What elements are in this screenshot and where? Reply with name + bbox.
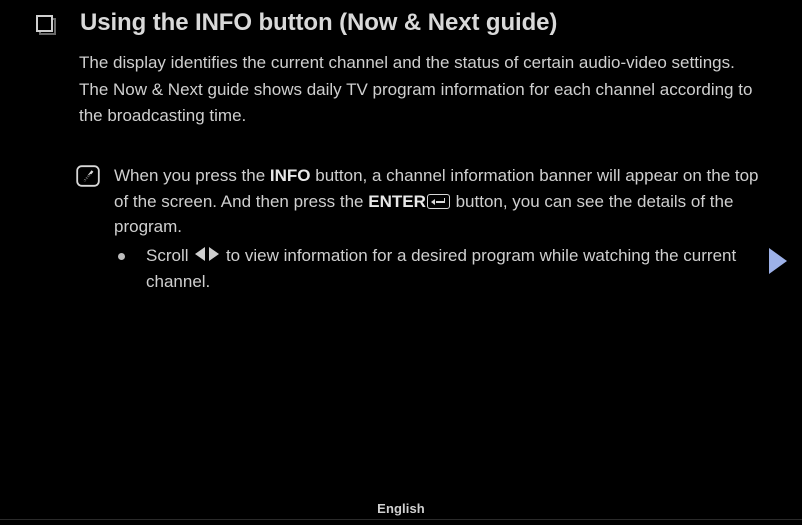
paragraph: The Now & Next guide shows daily TV prog…	[79, 77, 759, 129]
page-header: Using the INFO button (Now & Next guide)	[0, 6, 802, 41]
language-label: English	[377, 501, 425, 516]
dot-bullet-icon	[118, 253, 125, 260]
note-block: When you press the INFO button, a channe…	[76, 163, 766, 240]
list-item-text: Scroll to view information for a desired…	[146, 243, 763, 294]
arrow-right-icon	[209, 247, 219, 261]
enter-return-key-icon	[427, 194, 450, 209]
note-pencil-icon	[76, 165, 100, 187]
list-item-segment: Scroll	[146, 246, 193, 265]
page-footer: English	[0, 500, 802, 518]
arrow-left-icon	[195, 247, 205, 261]
enter-button-label: ENTER	[368, 192, 426, 211]
hollow-square-icon	[36, 15, 62, 41]
page-title: Using the INFO button (Now & Next guide)	[80, 6, 557, 40]
note-text-segment: When you press the	[114, 166, 270, 185]
paragraph: The display identifies the current chann…	[79, 50, 759, 76]
bottom-divider	[0, 519, 802, 520]
note-text: When you press the INFO button, a channe…	[114, 163, 766, 240]
list-item: Scroll to view information for a desired…	[118, 243, 763, 294]
list-item-segment: to view information for a desired progra…	[146, 246, 736, 291]
body-paragraphs: The display identifies the current chann…	[79, 50, 759, 129]
info-button-label: INFO	[270, 166, 311, 185]
next-page-arrow-icon[interactable]	[769, 248, 787, 274]
manual-page: Using the INFO button (Now & Next guide)…	[0, 0, 802, 525]
